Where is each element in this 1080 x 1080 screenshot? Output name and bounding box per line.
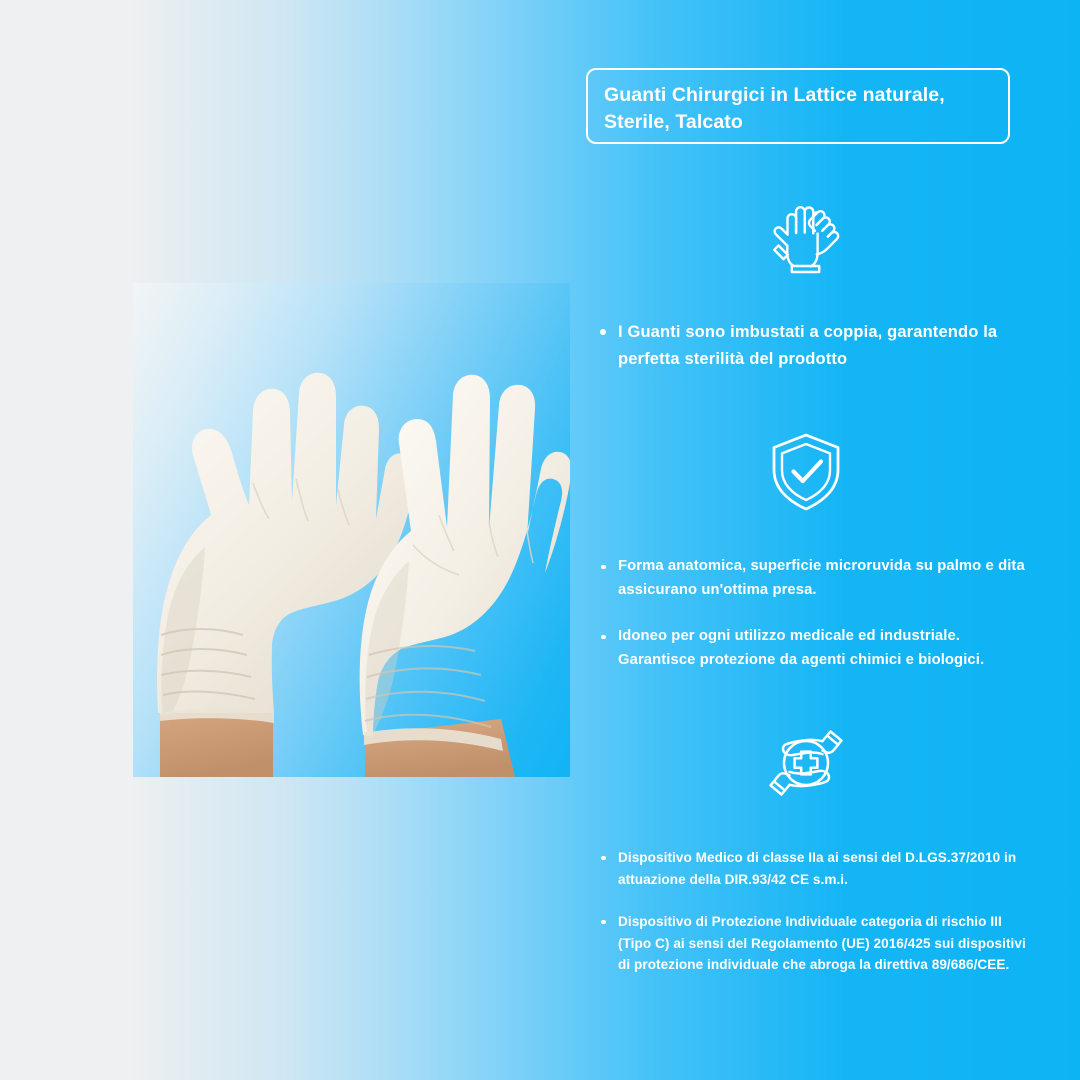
feature-list-3: Dispositivo Medico di classe IIa ai sens…: [586, 847, 1026, 976]
feature-bullet-3-1: Dispositivo Medico di classe IIa ai sens…: [586, 847, 1026, 890]
product-infographic: Guanti Chirurgici in Lattice naturale, S…: [0, 0, 1080, 1080]
product-photo-gloves: [133, 283, 570, 777]
feature-icon-3: [586, 721, 1026, 805]
product-title-box: Guanti Chirurgici in Lattice naturale, S…: [586, 68, 1010, 144]
product-title-line-2: Sterile, Talcato: [604, 111, 743, 133]
product-title-line-1: Guanti Chirurgici in Lattice naturale,: [604, 84, 945, 106]
feature-bullet-2-2: Idoneo per ogni utilizzo medicale ed ind…: [586, 625, 1026, 672]
product-title: Guanti Chirurgici in Lattice naturale, S…: [604, 82, 994, 136]
gloves-pair-icon: [763, 189, 849, 275]
shield-check-icon: [764, 430, 848, 514]
feature-bullet-1-1: I Guanti sono imbustati a coppia, garant…: [586, 319, 1026, 372]
caring-hands-medical-cross-icon: [762, 721, 850, 805]
feature-icon-1: [586, 189, 1026, 275]
feature-list-1: I Guanti sono imbustati a coppia, garant…: [586, 319, 1026, 372]
features-column: I Guanti sono imbustati a coppia, garant…: [586, 160, 1026, 1060]
feature-icon-2: [586, 430, 1026, 514]
feature-list-2: Forma anatomica, superficie microruvida …: [586, 555, 1026, 672]
feature-bullet-2-1: Forma anatomica, superficie microruvida …: [586, 555, 1026, 602]
feature-bullet-3-2: Dispositivo di Protezione Individuale ca…: [586, 911, 1026, 976]
